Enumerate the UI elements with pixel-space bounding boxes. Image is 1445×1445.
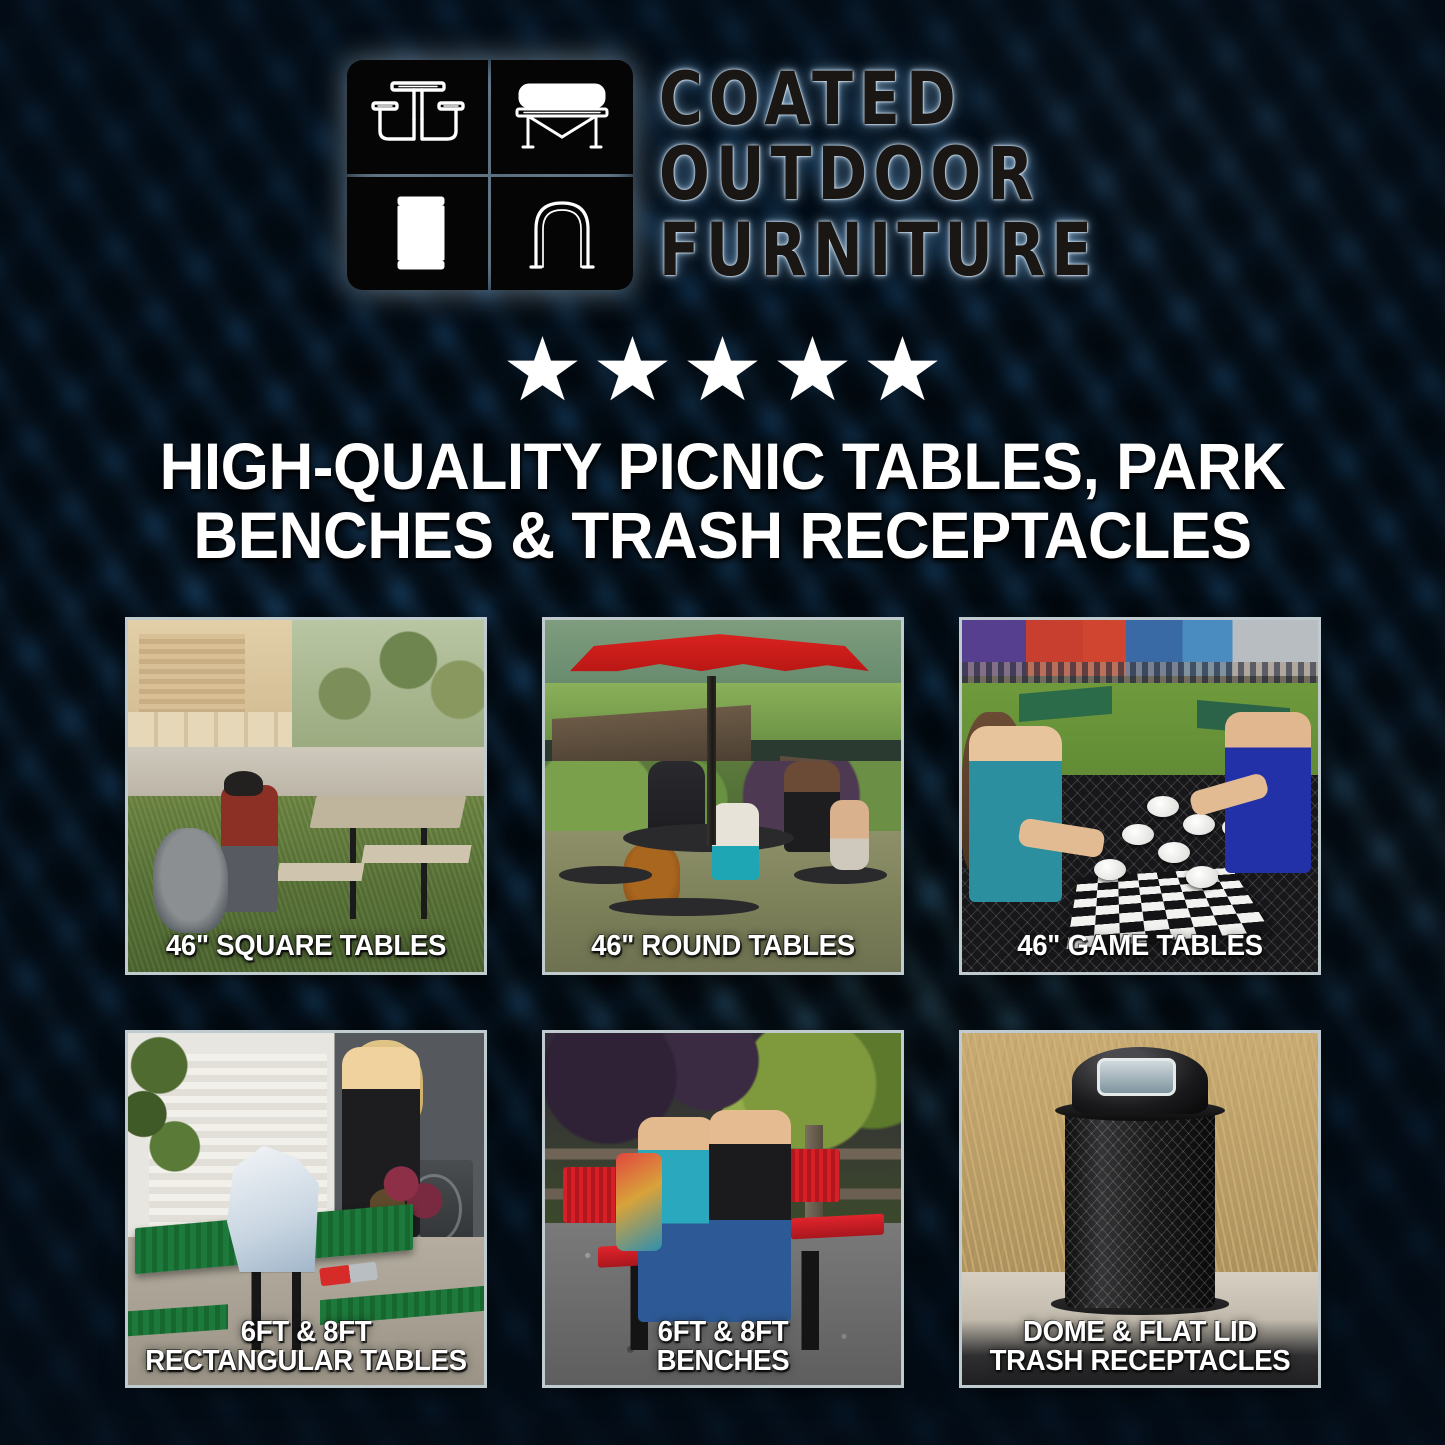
bench-icon: [491, 60, 633, 174]
product-caption-square-tables: 46" SQUARE TABLES: [143, 932, 470, 962]
product-caption-trash-receptacles: DOME & FLAT LID TRASH RECEPTACLES: [977, 1318, 1304, 1377]
caption-line-2: RECTANGULAR TABLES: [143, 1347, 470, 1377]
brand-logo: COATED OUTDOOR FURNITURE: [0, 60, 1445, 290]
product-caption-game-tables: 46" GAME TABLES: [977, 932, 1304, 962]
trash-receptacle-icon: [347, 177, 489, 291]
bike-rack-arch-icon: [491, 177, 633, 291]
product-photo-game-tables: [962, 620, 1318, 972]
wordmark-line-outdoor: OUTDOOR: [659, 139, 1040, 211]
star-icon: [507, 336, 579, 406]
headline: HIGH-QUALITY PICNIC TABLES, PARK BENCHES…: [100, 432, 1346, 571]
product-tile-benches[interactable]: 6FT & 8FT BENCHES: [542, 1030, 904, 1388]
picnic-table-icon: [347, 60, 489, 174]
caption-line-2: TRASH RECEPTACLES: [977, 1347, 1304, 1377]
brand-wordmark: COATED OUTDOOR FURNITURE: [659, 60, 1098, 274]
wordmark-line-coated: COATED: [659, 64, 962, 136]
product-tile-grid: 46" SQUARE TABLES: [125, 617, 1322, 1388]
caption-line-1: 6FT & 8FT: [560, 1318, 887, 1348]
caption-line-1: 6FT & 8FT: [143, 1318, 470, 1348]
star-icon: [687, 336, 759, 406]
headline-line-2: BENCHES & TRASH RECEPTACLES: [100, 501, 1346, 570]
caption-line-2: BENCHES: [560, 1347, 887, 1377]
product-caption-round-tables: 46" ROUND TABLES: [560, 932, 887, 962]
caption-line-1: 46" SQUARE TABLES: [143, 932, 470, 962]
product-caption-rectangular-tables: 6FT & 8FT RECTANGULAR TABLES: [143, 1318, 470, 1377]
product-tile-rectangular-tables[interactable]: 6FT & 8FT RECTANGULAR TABLES: [125, 1030, 487, 1388]
product-tile-game-tables[interactable]: 46" GAME TABLES: [959, 617, 1321, 975]
product-caption-benches: 6FT & 8FT BENCHES: [560, 1318, 887, 1377]
star-icon: [597, 336, 669, 406]
star-icon: [777, 336, 849, 406]
caption-line-1: DOME & FLAT LID: [977, 1318, 1304, 1348]
wordmark-line-furniture: FURNITURE: [659, 215, 1098, 287]
product-tile-trash-receptacles[interactable]: DOME & FLAT LID TRASH RECEPTACLES: [959, 1030, 1321, 1388]
product-tile-round-tables[interactable]: 46" ROUND TABLES: [542, 617, 904, 975]
product-tile-square-tables[interactable]: 46" SQUARE TABLES: [125, 617, 487, 975]
logo-icon-grid: [347, 60, 633, 290]
product-photo-square-tables: [128, 620, 484, 972]
star-rating: [0, 336, 1445, 406]
product-photo-round-tables: [545, 620, 901, 972]
poster-content: COATED OUTDOOR FURNITURE HIGH-QUALITY PI…: [0, 0, 1445, 1445]
headline-line-1: HIGH-QUALITY PICNIC TABLES, PARK: [100, 432, 1346, 501]
caption-line-1: 46" ROUND TABLES: [560, 932, 887, 962]
star-icon: [867, 336, 939, 406]
caption-line-1: 46" GAME TABLES: [977, 932, 1304, 962]
